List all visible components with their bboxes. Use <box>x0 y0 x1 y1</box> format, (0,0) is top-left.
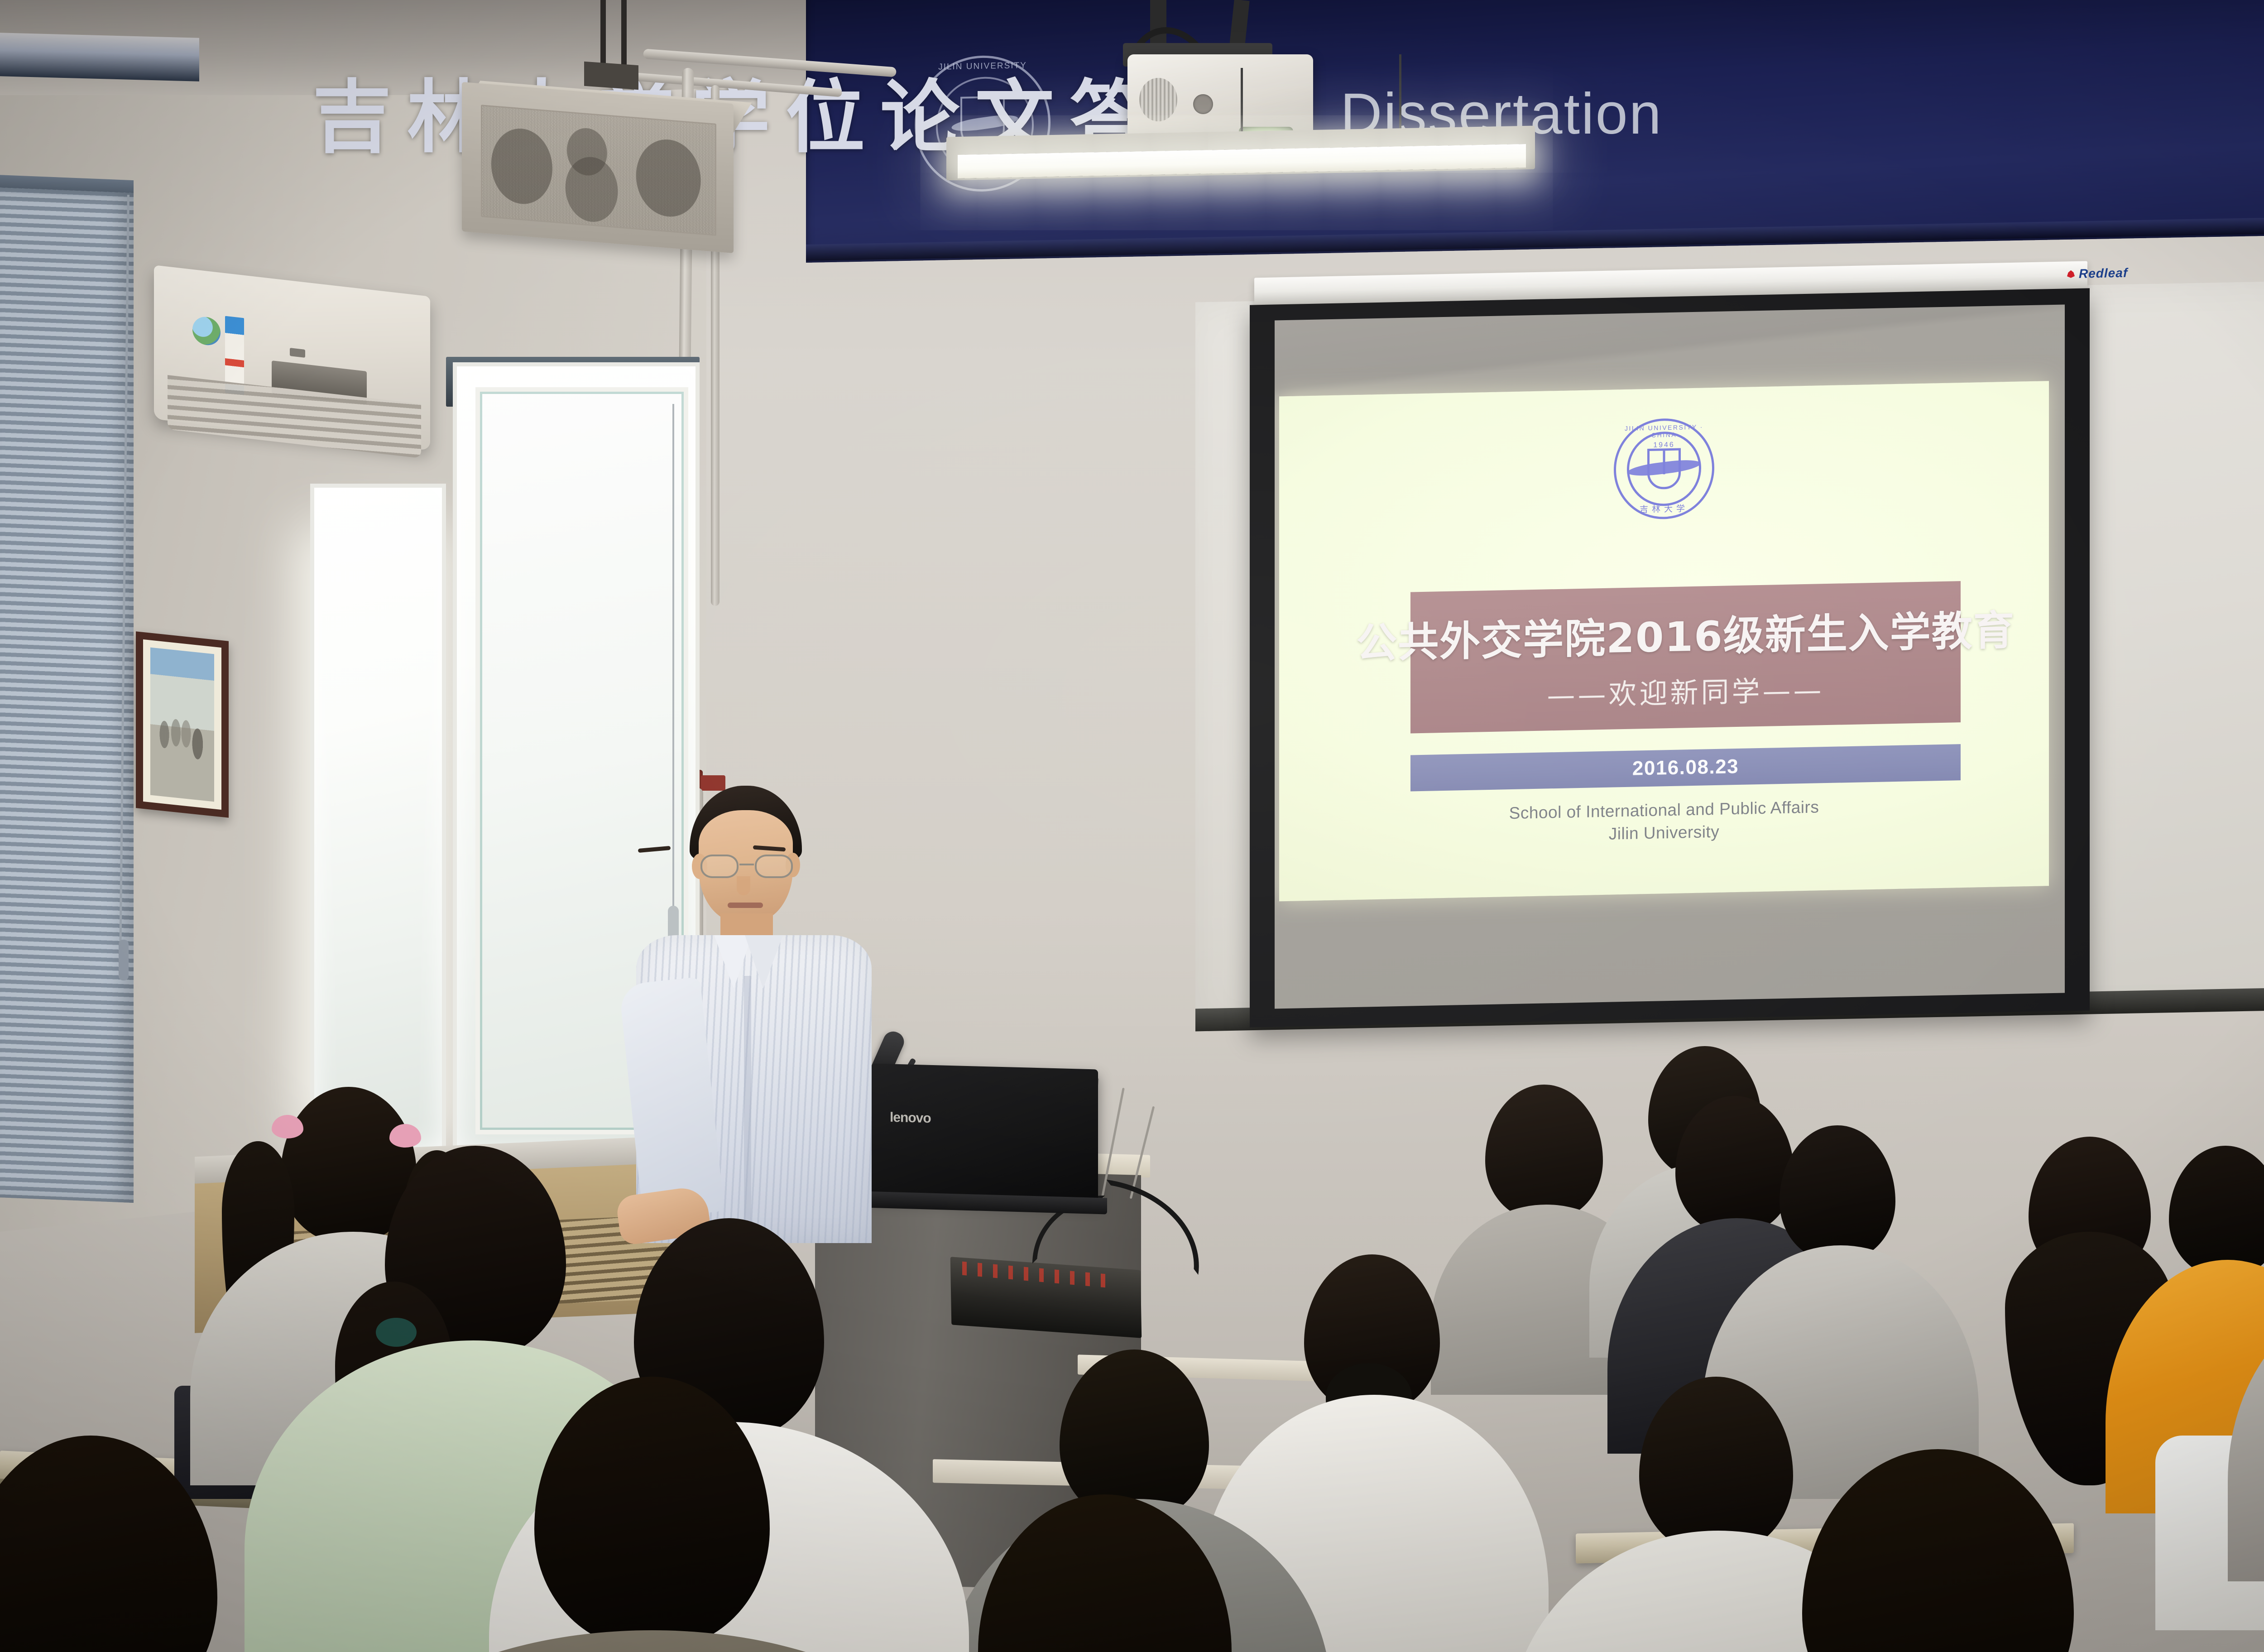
light-suspension-rod-2 <box>1399 54 1401 136</box>
speaker-mount-pole-1 <box>600 0 606 68</box>
presenter <box>632 786 912 1239</box>
projector-vent-icon <box>1139 78 1177 121</box>
framed-group-photo <box>136 631 229 818</box>
slide-title-sub: ——欢迎新同学—— <box>1547 667 1824 713</box>
red-leaf-icon <box>2067 270 2075 278</box>
light-suspension-rod-1 <box>1241 68 1243 136</box>
projector-focus-knob[interactable] <box>1193 94 1213 114</box>
speaker-bracket <box>584 62 638 90</box>
projection-screen-surface: JILIN UNIVERSITY · CHINA 1946 吉林大学 公共外交学… <box>1275 304 2065 1008</box>
slide-title-main: 公共外交学院2016级新生入学教育 <box>1356 597 2015 669</box>
presenter-glasses-icon <box>700 855 794 879</box>
amplifier-unit <box>0 33 199 82</box>
slide-date: 2016.08.23 <box>1632 755 1739 780</box>
jilin-university-seal-icon: JILIN UNIVERSITY · CHINA 1946 吉林大学 <box>1614 418 1714 520</box>
slide-title-band: 公共外交学院2016级新生入学教育 ——欢迎新同学—— <box>1410 581 1961 733</box>
wireless-receiver-unit <box>0 0 195 38</box>
classroom-scene: v∆√ +C))→ JILIN UNIVERSITY 吉林大学学位论文答辩 Di… <box>0 0 2264 1652</box>
presenter-eyebrow-left <box>638 846 671 853</box>
screen-brand-logo: Redleaf <box>2067 266 2128 282</box>
window-left-glass <box>314 488 442 1150</box>
presenter-nose <box>737 876 750 895</box>
glasses-bridge <box>739 864 754 865</box>
glasses-lens-right <box>755 855 793 878</box>
window-left[interactable] <box>310 484 446 1154</box>
presenter-mouth <box>728 903 763 908</box>
speaker-mount-pole-2 <box>621 0 627 65</box>
blinds-cord-weight[interactable] <box>119 940 129 980</box>
seal-chinese-name: 吉林大学 <box>1614 501 1714 515</box>
ac-display-panel <box>290 348 305 358</box>
photo-mat <box>143 639 221 810</box>
hair-tie-icon <box>376 1318 417 1347</box>
screen-brand-label: Redleaf <box>2079 266 2128 281</box>
venetian-blinds[interactable] <box>0 187 134 1203</box>
presenter-shirt-placket <box>744 976 751 1239</box>
photo-image <box>150 648 214 802</box>
slide-date-band: 2016.08.23 <box>1410 744 1961 791</box>
glasses-lens-left <box>700 855 739 878</box>
seal-arc-text: JILIN UNIVERSITY · CHINA <box>1614 423 1714 439</box>
speaker-grille-icon <box>481 105 716 236</box>
presentation-slide: JILIN UNIVERSITY · CHINA 1946 吉林大学 公共外交学… <box>1279 381 2049 901</box>
